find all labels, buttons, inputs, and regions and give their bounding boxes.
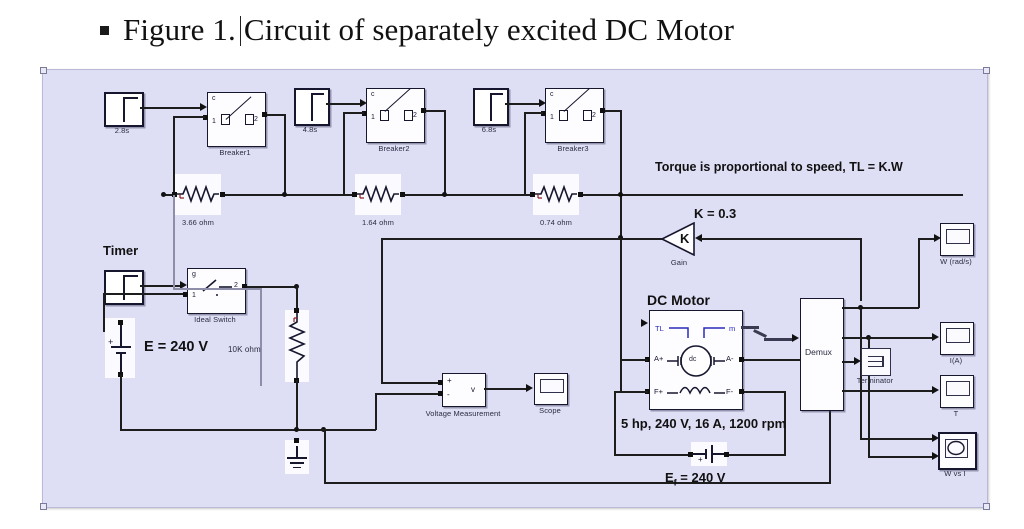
selection-handle-br[interactable] (983, 503, 990, 510)
dc-source-e-port-top (118, 320, 123, 325)
gain-block[interactable]: K (660, 222, 696, 256)
breaker2-term-right (404, 110, 413, 121)
ground-bar-1 (287, 457, 307, 459)
step-block-timer[interactable] (104, 270, 144, 305)
dc-source-e[interactable]: + (105, 318, 135, 378)
wire-switch-out-down (260, 286, 262, 386)
wire-step3-to-breaker3 (505, 103, 541, 105)
ideal-switch-label: Ideal Switch (194, 315, 236, 324)
resistor-10k-port-top (294, 308, 299, 313)
wire-step1-to-breaker1 (140, 107, 202, 109)
resistor-0-74ohm[interactable] (533, 174, 579, 215)
vm-port-minus (438, 391, 443, 396)
dc-source-ef-port-left (688, 452, 693, 457)
arrow-i-scope (932, 333, 939, 341)
breaker3-port-2-label: 2 (592, 112, 596, 119)
wire-rail-to-vm (298, 429, 376, 431)
wire-breaker-ctrl-down (173, 195, 175, 290)
wire-switch-out (247, 286, 297, 288)
battery-plus-sign: + (108, 337, 113, 347)
node-breaker1-bus (282, 192, 287, 197)
breaker1-port-1-label: 1 (212, 118, 216, 125)
wire-vm-plus-top (381, 238, 620, 240)
wire-motor-m-bus-2 (764, 338, 794, 341)
wire-ef-right (727, 454, 786, 456)
xy-graph-label: W vs I (944, 469, 965, 478)
diagram-canvas[interactable]: 2.8s 4.8s 6.8s c 1 2 Breaker1 (43, 70, 987, 507)
annotation-field-source: Ef = 240 V (665, 470, 725, 488)
wire-breaker2-out (426, 110, 445, 112)
terminator-label: Terminator (857, 376, 893, 385)
diagram-panel[interactable]: 2.8s 4.8s 6.8s c 1 2 Breaker1 (42, 69, 988, 508)
ground-bar-2 (290, 462, 304, 464)
step-block-6-8s[interactable] (473, 88, 509, 126)
page-title: Figure 1.Circuit of separately excited D… (123, 12, 734, 48)
demux-block[interactable]: Demux (800, 298, 844, 411)
wire-gain-to-tl-v (620, 238, 622, 391)
wire-step2-to-breaker2 (326, 103, 362, 105)
vm-plus-label: + (447, 376, 452, 385)
caption-prefix: Figure 1. (123, 12, 236, 47)
scope-screen (946, 381, 970, 396)
dc-motor-block[interactable]: TL m A+ A- F+ F- dc (649, 310, 743, 410)
square-bullet-icon (100, 26, 109, 35)
step-glyph-top (490, 93, 503, 95)
scope-speed-label: W (rad/s) (940, 257, 972, 266)
annotation-gain-value: K = 0.3 (694, 206, 736, 221)
wire-f-minus-out (744, 391, 786, 393)
wire-breaker-ctrl-right (173, 288, 261, 290)
selection-handle-bl[interactable] (40, 503, 47, 510)
wire-ef-left (614, 454, 690, 456)
wire-xy-w-in (860, 438, 934, 440)
resistor-10k-label: 10K ohm (228, 345, 261, 354)
arrow-breaker1-c (200, 103, 207, 111)
ground-block[interactable] (285, 440, 309, 474)
scope-voltage-label: Scope (539, 406, 561, 415)
wire-speed-feedback-v (860, 238, 862, 301)
arrow-t-scope (932, 386, 939, 394)
wire-vm-minus-in (375, 393, 439, 395)
arrow-scope-input (526, 384, 533, 392)
wire-vm-plus-in (381, 382, 439, 384)
breaker2-port-c-label: c (371, 91, 375, 98)
resistor3-port-left (530, 192, 535, 197)
terminator-block[interactable] (861, 348, 891, 376)
vm-minus-label: - (447, 390, 450, 399)
step-label-2-8s: 2.8s (115, 126, 130, 135)
annotation-motor-rating: 5 hp, 240 V, 16 A, 1200 rpm (621, 416, 786, 431)
resistor-3-66ohm[interactable] (175, 174, 221, 215)
figure-caption: Figure 1.Circuit of separately excited D… (0, 4, 1024, 56)
wire-breaker2-out-down (444, 110, 446, 195)
wire-f-plus-down (614, 391, 616, 455)
wire-bottom-return (324, 482, 830, 484)
annotation-dc-motor-title: DC Motor (647, 292, 710, 308)
wire-breaker2-in-left (343, 112, 364, 114)
resistor3-label: 0.74 ohm (540, 218, 572, 227)
step-block-4-8s[interactable] (294, 88, 330, 126)
breaker1-port-2-label: 2 (254, 116, 258, 123)
wire-f-plus-out (614, 391, 648, 393)
wire-demux-out-i (842, 337, 934, 339)
breaker3-port-1-label: 1 (550, 114, 554, 121)
arrow-demux-input (792, 334, 799, 342)
resistor1-label: 3.66 ohm (182, 218, 214, 227)
ef-plus-sign: + (698, 455, 703, 464)
xy-graph-block[interactable] (938, 432, 977, 470)
breaker3-label: Breaker3 (557, 144, 588, 153)
ground-bar-3 (293, 467, 301, 468)
breaker1-label: Breaker1 (219, 148, 250, 157)
resistor2-port-right (400, 192, 405, 197)
wire-switch-in-left (103, 293, 183, 295)
vm-port-plus (438, 380, 443, 385)
resistor2-port-left (352, 192, 357, 197)
arrow-dc-motor-tl (641, 319, 648, 327)
scope-torque-label: T (954, 409, 959, 418)
resistor3-port-right (578, 192, 583, 197)
step-glyph (490, 93, 492, 121)
dc-source-ef-port-right (724, 452, 729, 457)
selection-handle-tr[interactable] (983, 67, 990, 74)
text-cursor (240, 16, 241, 46)
voltage-measurement-label: Voltage Measurement (426, 409, 501, 418)
wire-demux-w-to-scope (918, 238, 920, 308)
breaker3-term-right (583, 110, 592, 121)
resistor-1-64ohm[interactable] (355, 174, 401, 215)
breaker2-label: Breaker2 (378, 144, 409, 153)
wire-bottom-return-up (324, 429, 326, 484)
node-bus-left (161, 192, 166, 197)
wire-gain-output (620, 238, 662, 240)
ef-suffix: = 240 V (677, 470, 726, 485)
vm-output-label: v (471, 385, 475, 394)
wire-vm-minus-up (375, 394, 377, 430)
scope-screen (540, 379, 564, 393)
terminator-spine (882, 356, 884, 367)
gain-label: Gain (671, 258, 687, 267)
scope-voltage-block[interactable] (534, 373, 568, 405)
switch-input-1-port (183, 292, 188, 297)
scope-speed-block[interactable] (940, 223, 974, 256)
breaker1-term-right (245, 114, 254, 125)
step-glyph-top (123, 97, 138, 99)
ground-port (294, 438, 299, 443)
wire-demux-out-w (842, 307, 919, 309)
battery-long-plate (111, 346, 131, 348)
wire-breaker1-out (267, 114, 285, 116)
step-glyph (311, 93, 313, 121)
ef-short-plate (705, 449, 707, 459)
annotation-torque: Torque is proportional to speed, TL = K.… (655, 160, 903, 174)
annotation-source-e: E = 240 V (144, 339, 208, 355)
selection-handle-tl[interactable] (40, 67, 47, 74)
dc-motor-center-label: dc (689, 356, 696, 363)
wire-breaker3-in-down (524, 112, 526, 195)
scope-screen (946, 229, 970, 244)
step-glyph-top (123, 275, 138, 277)
scope-current-label: I(A) (950, 356, 962, 365)
caption-text: Circuit of separately excited DC Motor (244, 12, 734, 47)
step-block-2-8s[interactable] (104, 92, 144, 127)
scope-current-block[interactable] (940, 322, 974, 355)
breaker2-block[interactable]: c 1 2 (366, 88, 425, 143)
wire-motor-m-bus (741, 326, 759, 329)
step-glyph (123, 275, 125, 300)
wire-ground-rail (120, 429, 298, 431)
breaker3-block[interactable]: c 1 2 (545, 88, 604, 143)
wire-xy-i-in (868, 456, 934, 458)
breaker3-switch-arm (564, 88, 590, 112)
step-label-4-8s: 4.8s (303, 125, 318, 134)
battery-lead-bottom (120, 352, 122, 374)
node-breaker2-bus (442, 192, 447, 197)
breaker3-port-c-label: c (550, 91, 554, 98)
resistor-10k-ohm[interactable] (285, 310, 309, 382)
wire-motor-m-bus-diag (753, 329, 767, 338)
resistor1-port-right (220, 192, 225, 197)
resistor2-label: 1.64 ohm (362, 218, 394, 227)
wire-gain-input (701, 238, 861, 240)
step-glyph-top (311, 93, 324, 95)
breaker2-switch-arm (385, 88, 411, 112)
scope-screen (946, 328, 970, 343)
wire-breaker1-in-left (173, 116, 205, 118)
wire-battery-bottom-down (120, 375, 122, 430)
wire-vm-plus-up (381, 238, 383, 383)
step-label-6-8s: 6.8s (482, 125, 497, 134)
wire-breaker1-out-down (284, 114, 286, 195)
step-glyph (123, 97, 125, 122)
wire-10k-bottom-down (296, 380, 298, 430)
wire-breaker3-out (605, 110, 621, 112)
voltage-measurement-block[interactable]: + - v (442, 373, 486, 407)
ideal-switch-block[interactable]: g 1 2 (187, 268, 246, 314)
wire-vm-to-scope (484, 388, 528, 390)
wire-breaker3-in-left (524, 112, 543, 114)
node-bus-right (618, 192, 623, 197)
wire-timer-to-switch (140, 285, 182, 287)
wire-a-plus-in (620, 359, 648, 361)
breaker2-port-2-label: 2 (413, 112, 417, 119)
breaker1-port-c-label: c (212, 95, 216, 102)
scope-torque-block[interactable] (940, 375, 974, 408)
breaker2-port-1-label: 1 (371, 114, 375, 121)
ef-prefix: E (665, 470, 674, 485)
gain-symbol: K (680, 231, 689, 246)
wire-breaker2-in-down (343, 112, 345, 195)
wire-demux-out-t (842, 390, 934, 392)
wire-switch-out-to-10k (296, 286, 298, 308)
annotation-timer-title: Timer (103, 243, 138, 258)
battery-lead-top (120, 324, 122, 346)
breaker1-block[interactable]: c 1 2 (207, 92, 266, 147)
demux-label: Demux (805, 347, 832, 357)
dc-source-ef[interactable]: + (691, 442, 727, 466)
